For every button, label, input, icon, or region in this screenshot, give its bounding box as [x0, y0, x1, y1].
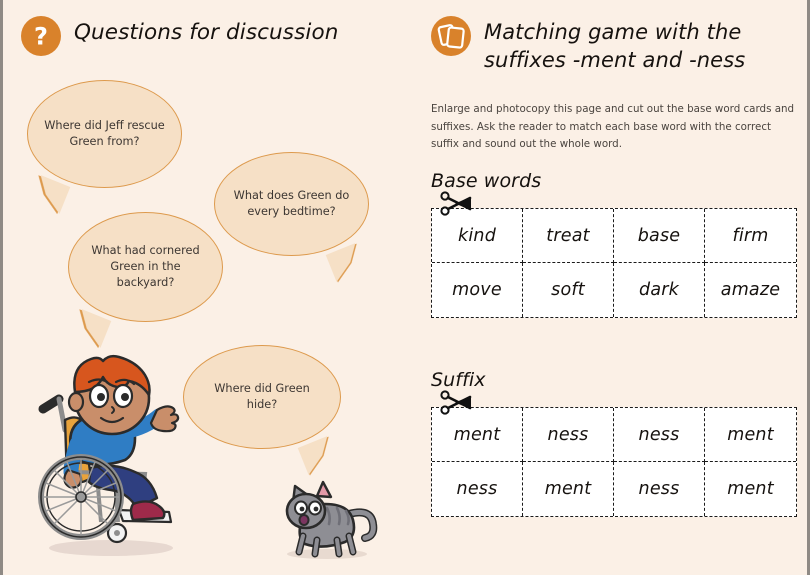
- bubble-tail-icon: [71, 309, 112, 348]
- scissors-icon: [439, 191, 473, 217]
- suffix-card[interactable]: ment: [432, 408, 523, 462]
- questions-title: Questions for discussion: [74, 16, 338, 48]
- questions-header: ? Questions for discussion: [21, 16, 401, 56]
- base-words-grid-wrapper: kind treat base firm move soft dark amaz…: [431, 208, 797, 318]
- suffix-heading: Suffix: [431, 369, 486, 391]
- suffix-card[interactable]: ness: [614, 408, 705, 462]
- question-bubble-4: Where did Green hide?: [183, 345, 341, 449]
- base-word-card[interactable]: move: [432, 263, 523, 317]
- svg-text:?: ?: [34, 23, 48, 51]
- base-words-grid: kind treat base firm move soft dark amaz…: [431, 208, 797, 318]
- matching-game-title: Matching game with the suffixes -ment an…: [484, 16, 806, 75]
- question-bubble-3: What had cornered Green in the backyard?: [68, 212, 223, 322]
- base-word-card[interactable]: amaze: [705, 263, 796, 317]
- question-bubble-1: Where did Jeff rescue Green from?: [27, 80, 182, 188]
- base-word-card[interactable]: kind: [432, 209, 523, 263]
- suffix-card[interactable]: ness: [614, 462, 705, 516]
- matching-game-header: Matching game with the suffixes -ment an…: [431, 16, 806, 75]
- cards-icon: [431, 16, 471, 56]
- question-bubble-4-text: Where did Green hide?: [198, 381, 326, 413]
- suffix-grid: ment ness ness ment ness ment ness ment: [431, 407, 797, 517]
- bubble-tail-icon: [30, 175, 71, 214]
- bubble-tail-icon: [326, 243, 367, 282]
- base-word-card[interactable]: treat: [523, 209, 614, 263]
- base-word-card[interactable]: dark: [614, 263, 705, 317]
- suffix-card[interactable]: ment: [705, 408, 796, 462]
- base-word-card[interactable]: firm: [705, 209, 796, 263]
- instructions-text: Enlarge and photocopy this page and cut …: [431, 101, 797, 154]
- question-mark-icon: ?: [21, 16, 61, 56]
- suffix-card[interactable]: ment: [523, 462, 614, 516]
- question-bubble-2: What does Green do every bedtime?: [214, 152, 369, 256]
- base-word-card[interactable]: soft: [523, 263, 614, 317]
- suffix-card[interactable]: ness: [432, 462, 523, 516]
- question-bubble-3-text: What had cornered Green in the backyard?: [83, 243, 208, 291]
- suffix-grid-wrapper: ment ness ness ment ness ment ness ment: [431, 407, 797, 517]
- base-word-card[interactable]: base: [614, 209, 705, 263]
- gray-cat-illustration: [273, 478, 383, 560]
- scissors-icon: [439, 390, 473, 416]
- boy-in-wheelchair-illustration: [19, 352, 199, 560]
- bubble-tail-icon: [298, 436, 339, 475]
- base-words-heading: Base words: [431, 170, 541, 192]
- suffix-card[interactable]: ness: [523, 408, 614, 462]
- suffix-card[interactable]: ment: [705, 462, 796, 516]
- matching-game-panel: Matching game with the suffixes -ment an…: [415, 0, 810, 575]
- worksheet-page: ? Questions for discussion Where did Jef…: [0, 0, 810, 575]
- question-bubble-1-text: Where did Jeff rescue Green from?: [42, 118, 167, 150]
- question-bubble-2-text: What does Green do every bedtime?: [229, 188, 354, 220]
- questions-panel: ? Questions for discussion Where did Jef…: [3, 0, 415, 575]
